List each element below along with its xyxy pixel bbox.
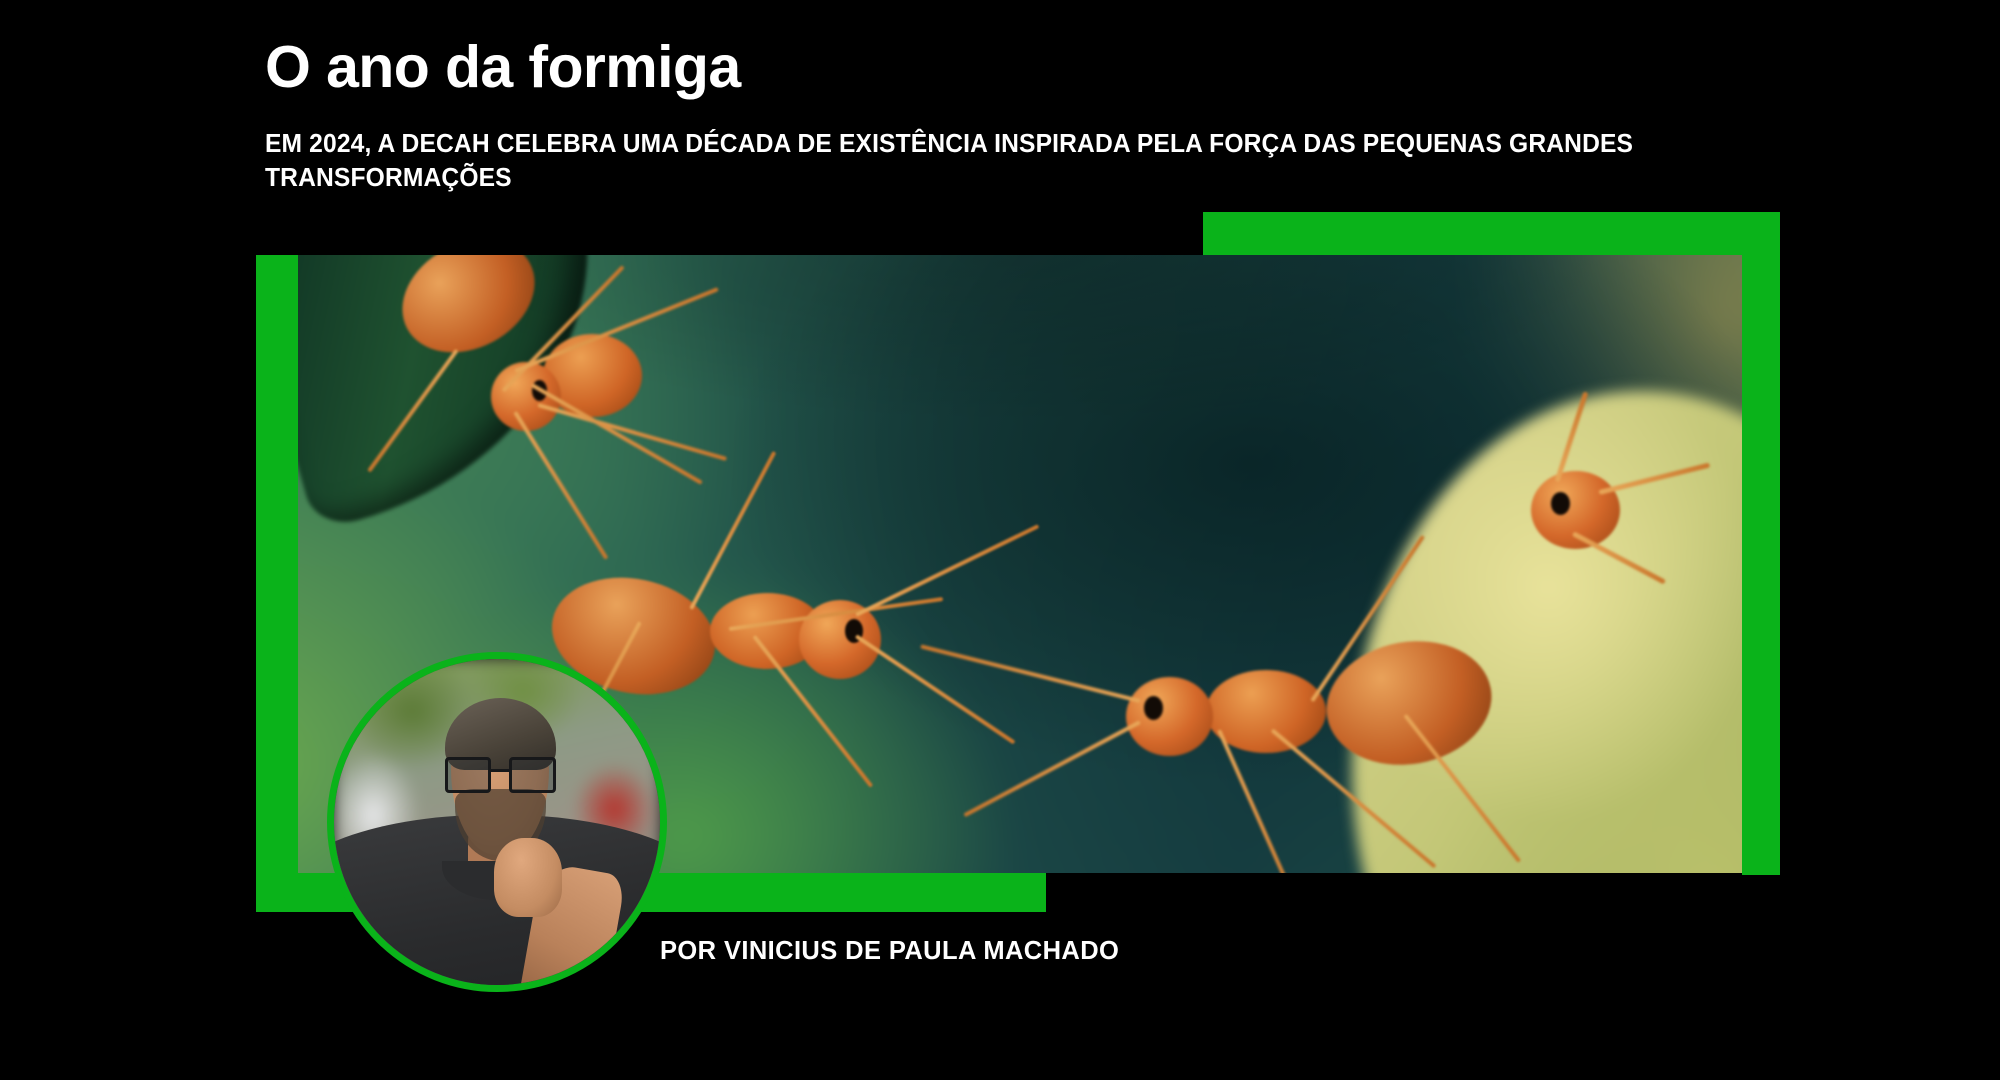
avatar bbox=[327, 652, 667, 992]
glasses-lens-right bbox=[509, 757, 556, 793]
ant-leg bbox=[1572, 531, 1666, 584]
byline: POR VINICIUS DE PAULA MACHADO bbox=[660, 937, 1119, 966]
frame-accent-right bbox=[1742, 212, 1780, 875]
ant-head bbox=[1126, 677, 1212, 756]
article-hero-layout: O ano da formiga EM 2024, A DECAH CELEBR… bbox=[0, 0, 2000, 1080]
ant-abdomen bbox=[383, 255, 554, 374]
glasses-bridge bbox=[491, 769, 509, 772]
page-title: O ano da formiga bbox=[265, 34, 741, 100]
ant-antenna bbox=[855, 524, 1039, 617]
frame-accent-top-right bbox=[1203, 212, 1780, 256]
ant-figure bbox=[1453, 416, 1713, 601]
article-deck: EM 2024, A DECAH CELEBRA UMA DÉCADA DE E… bbox=[265, 128, 1732, 196]
ant-leg bbox=[367, 349, 459, 473]
ant-eye bbox=[1144, 696, 1163, 720]
glasses-icon bbox=[445, 757, 556, 793]
avatar-hand bbox=[494, 838, 562, 916]
frame-accent-left bbox=[256, 255, 298, 912]
ant-leg bbox=[689, 450, 776, 609]
glasses-lens-left bbox=[445, 757, 492, 793]
ant-eye bbox=[1551, 492, 1570, 515]
ant-antenna bbox=[1598, 462, 1710, 495]
